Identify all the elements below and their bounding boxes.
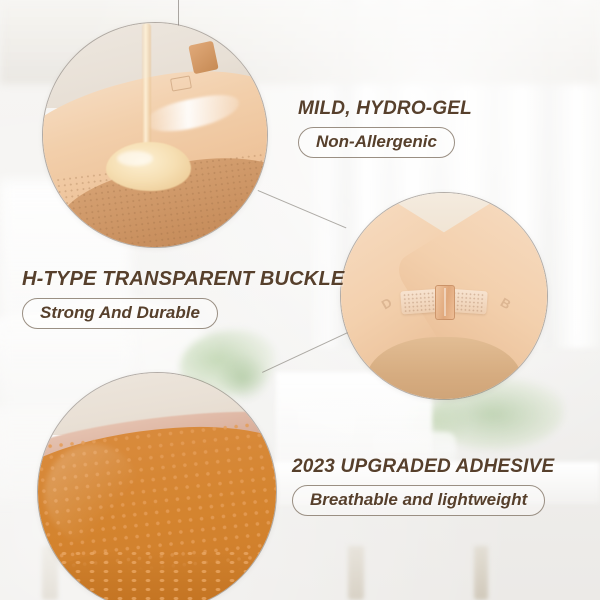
feature-image-gel: [42, 22, 268, 248]
product-feature-infographic: D B MILD, HYDRO-GEL Non-Allergenic H-TYP…: [0, 0, 600, 600]
gel-photo-gel-pool: [106, 142, 191, 191]
feature-subtitle-buckle: Strong And Durable: [22, 298, 218, 329]
feature-label-adhesive: 2023 UPGRADED ADHESIVE Breathable and li…: [292, 456, 554, 516]
feature-label-buckle: H-TYPE TRANSPARENT BUCKLE Strong And Dur…: [22, 268, 344, 329]
gel-photo-pool-highlight: [117, 151, 153, 167]
feature-image-buckle: D B: [340, 192, 548, 400]
adhesive-photo-sheen: [45, 444, 140, 544]
feature-headline-gel: MILD, HYDRO-GEL: [298, 98, 472, 120]
feature-subtitle-gel: Non-Allergenic: [298, 127, 455, 158]
feature-headline-buckle: H-TYPE TRANSPARENT BUCKLE: [22, 268, 344, 291]
buckle-photo-clasp: [435, 285, 456, 320]
feature-subtitle-adhesive: Breathable and lightweight: [292, 485, 545, 516]
adhesive-photo-lower-band: [43, 549, 277, 600]
feature-image-adhesive: [37, 372, 277, 600]
feature-label-gel: MILD, HYDRO-GEL Non-Allergenic: [298, 98, 472, 158]
feature-headline-adhesive: 2023 UPGRADED ADHESIVE: [292, 456, 554, 478]
